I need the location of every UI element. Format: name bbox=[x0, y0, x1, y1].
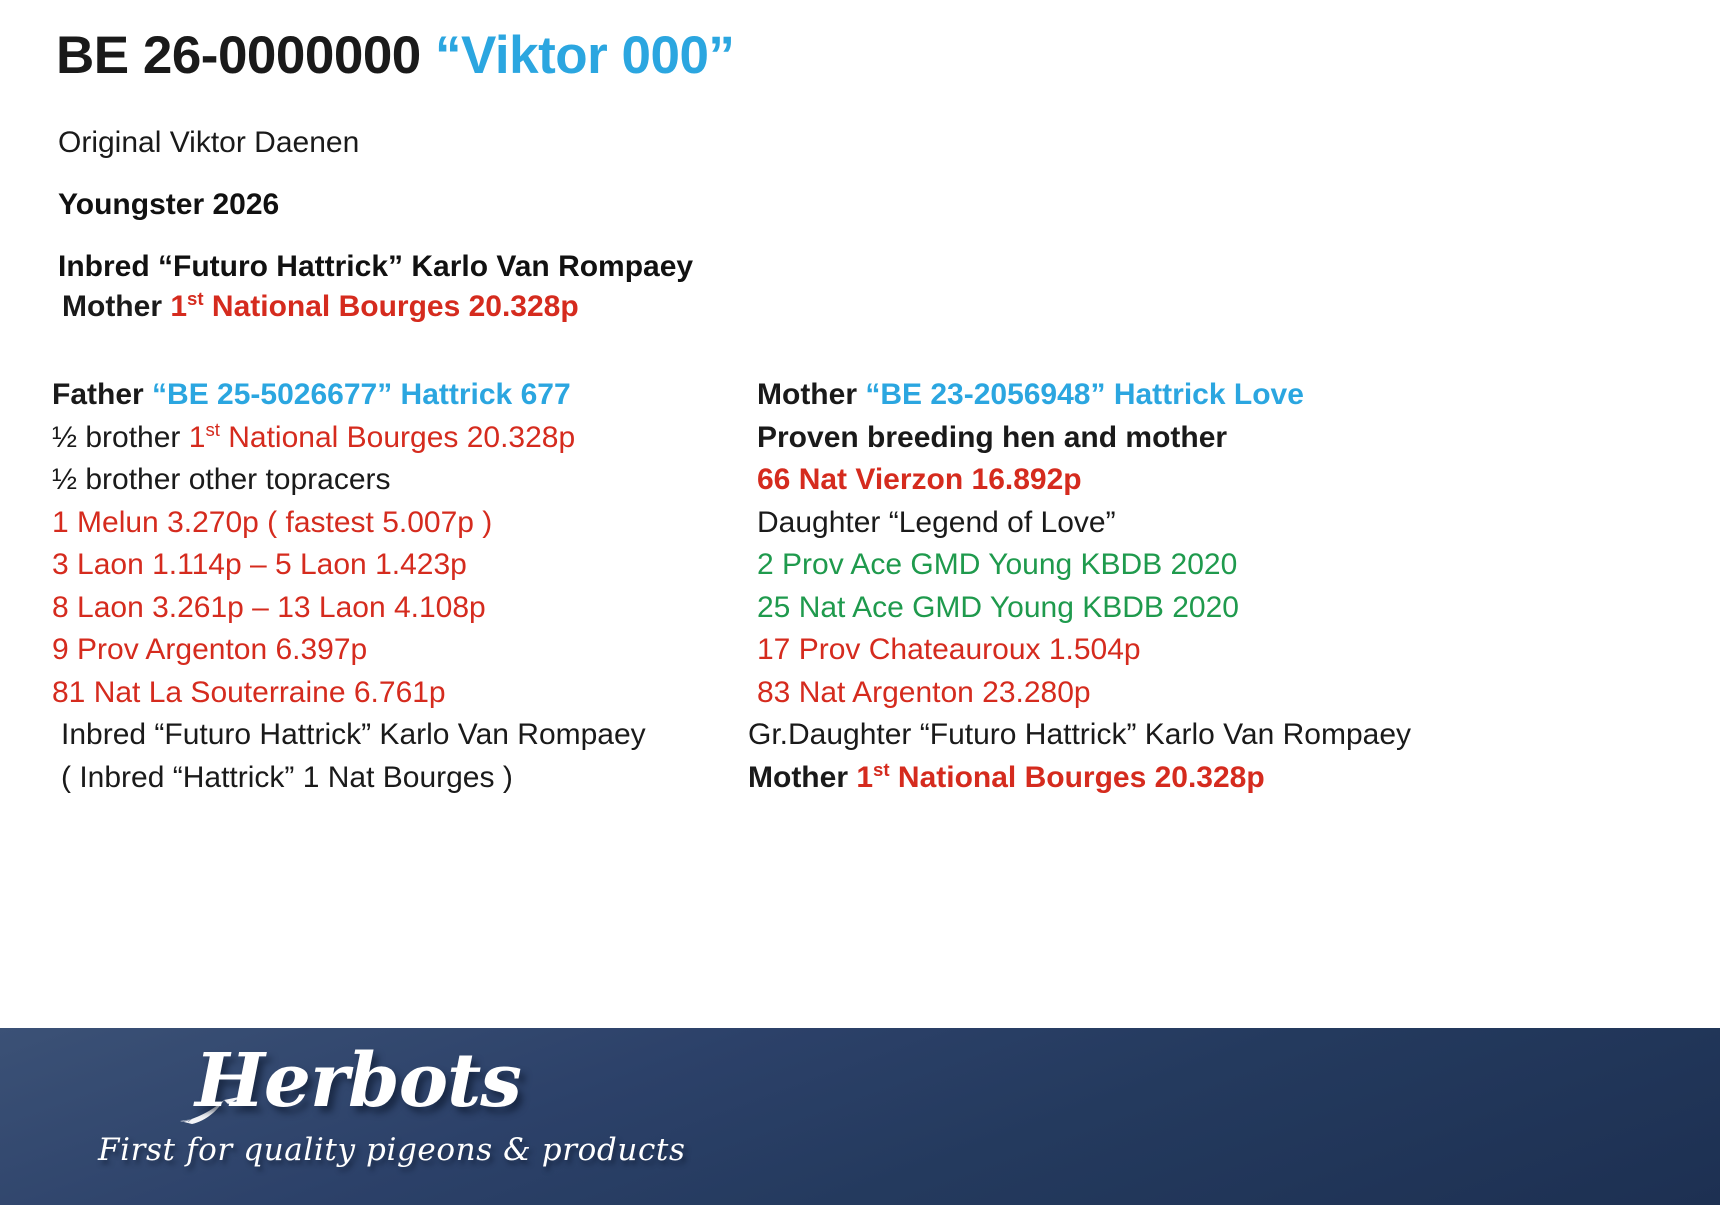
pedigree-text: 66 Nat Vierzon 16.892p bbox=[757, 463, 1082, 496]
mother-line-argenton: 83 Nat Argenton 23.280p bbox=[748, 672, 1648, 715]
pedigree-text: Daughter “Legend of Love” bbox=[757, 506, 1116, 539]
pedigree-text: 3 Laon 1.114p – 5 Laon 1.423p bbox=[52, 548, 467, 581]
father-line-inbred-hattrick: ( Inbred “Hattrick” 1 Nat Bourges ) bbox=[52, 757, 752, 800]
mother-line-prov-ace: 2 Prov Ace GMD Young KBDB 2020 bbox=[748, 544, 1648, 587]
pedigree-text: ( Inbred “Hattrick” 1 Nat Bourges ) bbox=[61, 761, 513, 794]
page-title: BE 26-0000000 “Viktor 000” bbox=[56, 26, 734, 87]
inbred-line: Inbred “Futuro Hattrick” Karlo Van Rompa… bbox=[58, 250, 693, 284]
pedigree-text: National Bourges 20.328p bbox=[220, 421, 575, 454]
pedigree-text: 1 bbox=[189, 421, 206, 454]
pedigree-text: ½ brother other topracers bbox=[52, 463, 391, 496]
pedigree-text: ½ brother bbox=[52, 421, 189, 454]
father-label: Father bbox=[52, 378, 152, 411]
father-line-inbred: Inbred “Futuro Hattrick” Karlo Van Rompa… bbox=[52, 714, 752, 757]
pedigree-text: 1 bbox=[856, 761, 873, 794]
pedigree-text: National Bourges 20.328p bbox=[890, 761, 1265, 794]
father-line-laon-2: 8 Laon 3.261p – 13 Laon 4.108p bbox=[52, 587, 752, 630]
father-heading: Father “BE 25-5026677” Hattrick 677 bbox=[52, 374, 752, 417]
pigeon-ring-number: BE 26-0000000 bbox=[56, 26, 421, 85]
father-line-argenton: 9 Prov Argenton 6.397p bbox=[52, 629, 752, 672]
mother-column-label: Mother bbox=[757, 378, 865, 411]
pedigree-text: 17 Prov Chateauroux 1.504p bbox=[757, 633, 1141, 666]
father-line-melun: 1 Melun 3.270p ( fastest 5.007p ) bbox=[52, 502, 752, 545]
herbots-wordmark: Herbots bbox=[195, 1038, 521, 1124]
father-line-halfbrother-topracers: ½ brother other topracers bbox=[52, 459, 752, 502]
pedigree-text: 2 Prov Ace GMD Young KBDB 2020 bbox=[757, 548, 1237, 581]
father-id: “BE 25-5026677” Hattrick 677 bbox=[152, 378, 571, 411]
mother-line-mother-bourges: Mother 1st National Bourges 20.328p bbox=[748, 757, 1648, 800]
father-line-halfbrother-bourges: ½ brother 1st National Bourges 20.328p bbox=[52, 417, 752, 460]
mother-rank-suffix: st bbox=[187, 288, 204, 309]
pedigree-text: 83 Nat Argenton 23.280p bbox=[757, 676, 1091, 709]
pedigree-page: BE 26-0000000 “Viktor 000” Original Vikt… bbox=[0, 0, 1720, 1205]
father-line-list: ½ brother 1st National Bourges 20.328p½ … bbox=[52, 417, 752, 800]
mother-line-vierzon: 66 Nat Vierzon 16.892p bbox=[748, 459, 1648, 502]
mother-column: Mother “BE 23-2056948” Hattrick Love Pro… bbox=[748, 374, 1648, 799]
mother-line-chateauroux: 17 Prov Chateauroux 1.504p bbox=[748, 629, 1648, 672]
mother-label: Mother bbox=[62, 290, 170, 323]
pedigree-text: st bbox=[205, 419, 219, 440]
mother-bourges-line: Mother 1st National Bourges 20.328p bbox=[62, 290, 579, 324]
pedigree-text: 9 Prov Argenton 6.397p bbox=[52, 633, 367, 666]
mother-line-list: Proven breeding hen and mother66 Nat Vie… bbox=[748, 417, 1648, 800]
herbots-logo: Herbots First for quality pigeons & prod… bbox=[90, 1028, 610, 1205]
footer-bar: Herbots First for quality pigeons & prod… bbox=[0, 1028, 1720, 1205]
pedigree-text: Proven breeding hen and mother bbox=[757, 421, 1227, 454]
pedigree-text: Inbred “Futuro Hattrick” Karlo Van Rompa… bbox=[61, 718, 646, 751]
mother-line-legend-of-love: Daughter “Legend of Love” bbox=[748, 502, 1648, 545]
pedigree-text: Mother bbox=[748, 761, 856, 794]
father-line-laon-1: 3 Laon 1.114p – 5 Laon 1.423p bbox=[52, 544, 752, 587]
mother-id: “BE 23-2056948” Hattrick Love bbox=[865, 378, 1304, 411]
father-line-la-souterraine: 81 Nat La Souterraine 6.761p bbox=[52, 672, 752, 715]
pedigree-text: 81 Nat La Souterraine 6.761p bbox=[52, 676, 446, 709]
pigeon-nickname: “Viktor 000” bbox=[435, 26, 734, 85]
mother-heading: Mother “BE 23-2056948” Hattrick Love bbox=[748, 374, 1648, 417]
pedigree-text: 1 Melun 3.270p ( fastest 5.007p ) bbox=[52, 506, 492, 539]
herbots-tagline: First for quality pigeons & products bbox=[98, 1132, 685, 1168]
mother-line-nat-ace: 25 Nat Ace GMD Young KBDB 2020 bbox=[748, 587, 1648, 630]
pedigree-text: 8 Laon 3.261p – 13 Laon 4.108p bbox=[52, 591, 486, 624]
pedigree-text: 25 Nat Ace GMD Young KBDB 2020 bbox=[757, 591, 1239, 624]
mother-line-proven: Proven breeding hen and mother bbox=[748, 417, 1648, 460]
mother-rank: 1 bbox=[170, 290, 187, 323]
pedigree-text: Gr.Daughter “Futuro Hattrick” Karlo Van … bbox=[748, 718, 1411, 751]
pedigree-text: st bbox=[873, 759, 890, 780]
youngster-line: Youngster 2026 bbox=[58, 188, 279, 222]
father-column: Father “BE 25-5026677” Hattrick 677 ½ br… bbox=[52, 374, 752, 799]
mother-result: National Bourges 20.328p bbox=[204, 290, 579, 323]
origin-line: Original Viktor Daenen bbox=[58, 126, 359, 160]
mother-line-grdaughter: Gr.Daughter “Futuro Hattrick” Karlo Van … bbox=[748, 714, 1648, 757]
pedigree-content: BE 26-0000000 “Viktor 000” Original Vikt… bbox=[0, 0, 1720, 1028]
